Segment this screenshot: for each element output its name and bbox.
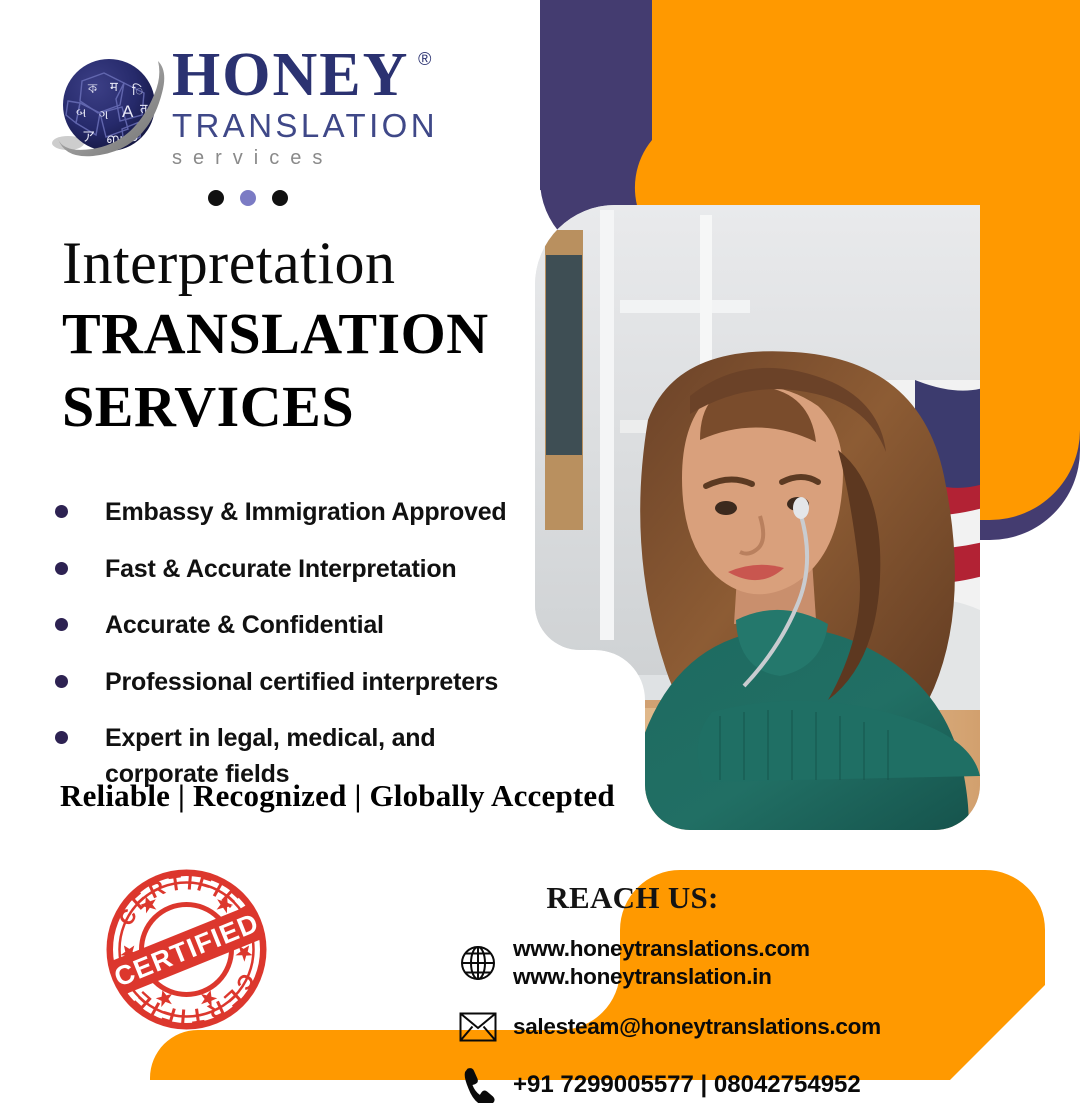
website-line-2: www.honeytranslation.in xyxy=(513,964,772,989)
feature-text: Professional certified interpreters xyxy=(105,665,498,701)
contact-panel: REACH US: www.honeytranslations.com www.… xyxy=(455,880,1055,1107)
contact-panel-title: REACH US: xyxy=(455,880,810,916)
dot-1 xyxy=(208,190,224,206)
bullet-dot-icon xyxy=(55,562,68,575)
svg-text:ि: ि xyxy=(132,83,143,98)
globe-icon xyxy=(455,941,501,985)
page-title: Interpretation TRANSLATION SERVICES xyxy=(62,232,532,440)
logo-name-tertiary: services xyxy=(172,147,472,170)
feature-text: Embassy & Immigration Approved xyxy=(105,495,507,531)
envelope-icon xyxy=(455,1005,501,1049)
bullet-dot-icon xyxy=(55,618,68,631)
feature-text: Fast & Accurate Interpretation xyxy=(105,552,456,588)
feature-text: Accurate & Confidential xyxy=(105,608,384,644)
feature-list: Embassy & Immigration Approved Fast & Ac… xyxy=(55,495,555,792)
dot-3 xyxy=(272,190,288,206)
logo-name-secondary: TRANSLATION xyxy=(172,108,472,144)
tagline: Reliable | Recognized | Globally Accepte… xyxy=(60,778,615,814)
bullet-dot-icon xyxy=(55,675,68,688)
svg-text:ア: ア xyxy=(82,129,95,144)
hero-photo xyxy=(535,205,983,840)
logo-wordmark: HONEY® TRANSLATION services xyxy=(172,45,472,170)
list-item: Embassy & Immigration Approved xyxy=(55,495,555,531)
certified-stamp-icon: CERTIFIED CERTIFIED CERTIFIED xyxy=(105,868,268,1031)
registered-mark-icon: ® xyxy=(418,51,433,69)
list-item: Accurate & Confidential xyxy=(55,608,555,644)
svg-text:ক: ক xyxy=(87,81,98,96)
headline-script-line: Interpretation xyxy=(62,232,532,295)
phone-icon xyxy=(455,1063,501,1107)
bullet-dot-icon xyxy=(55,505,68,518)
bullet-dot-icon xyxy=(55,731,68,744)
svg-text:A: A xyxy=(122,102,134,121)
contact-row-phone[interactable]: +91 7299005577 | 08042754952 xyxy=(455,1063,1055,1107)
logo-dots xyxy=(208,190,288,206)
headline-bold-line-1: TRANSLATION xyxy=(62,301,532,368)
contact-text-phone: +91 7299005577 | 08042754952 xyxy=(513,1070,861,1100)
flyer-canvas: ক म ि બ ગ A त ア ബ ఠ HONEY® TRANSLATION s… xyxy=(0,0,1080,1080)
contact-text-website: www.honeytranslations.com www.honeytrans… xyxy=(513,935,810,991)
contact-row-email[interactable]: salesteam@honeytranslations.com xyxy=(455,1005,1055,1049)
svg-text:બ: બ xyxy=(76,105,86,120)
contact-text-email: salesteam@honeytranslations.com xyxy=(513,1013,881,1041)
globe-languages-icon: ক म ि બ ગ A त ア ബ ఠ xyxy=(52,51,168,163)
headline-bold-line-2: SERVICES xyxy=(62,374,532,441)
svg-text:ગ: ગ xyxy=(99,107,109,122)
list-item: Professional certified interpreters xyxy=(55,665,555,701)
svg-text:म: म xyxy=(110,79,118,94)
website-line-1: www.honeytranslations.com xyxy=(513,936,810,961)
contact-list: www.honeytranslations.com www.honeytrans… xyxy=(455,935,1055,1107)
logo-name-primary: HONEY® xyxy=(172,45,409,106)
contact-row-website[interactable]: www.honeytranslations.com www.honeytrans… xyxy=(455,935,1055,991)
list-item: Fast & Accurate Interpretation xyxy=(55,552,555,588)
dot-2 xyxy=(240,190,256,206)
